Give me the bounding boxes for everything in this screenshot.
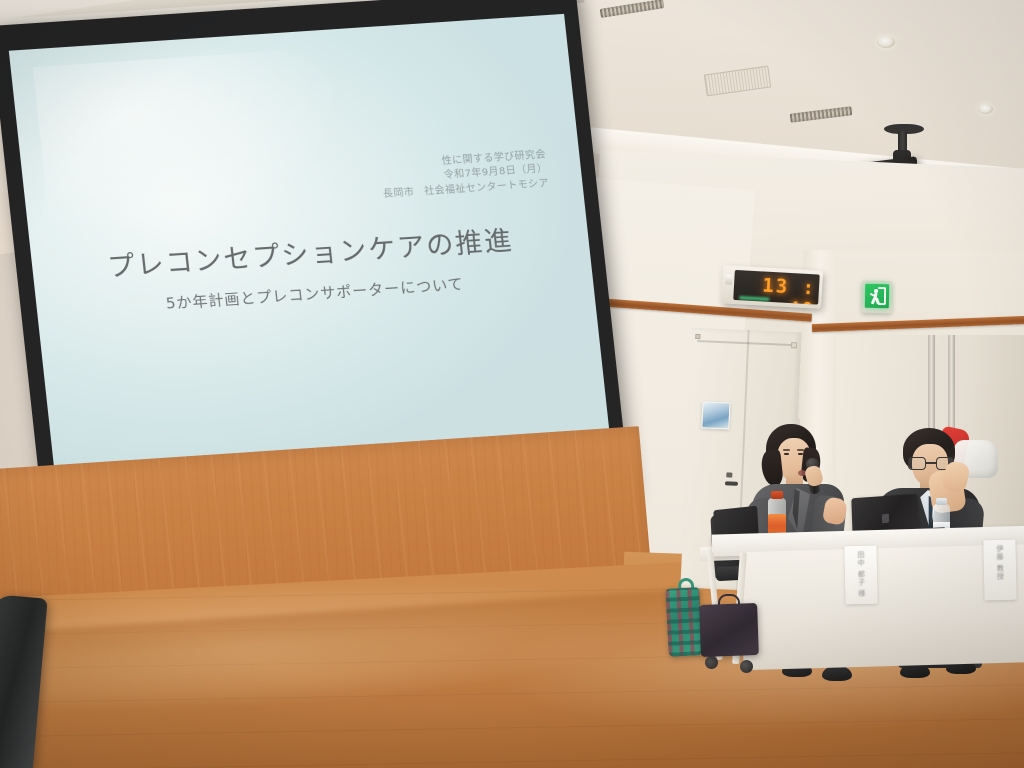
slide-header-block: 性に関する学び研究会 令和7年9月8日（月） 長岡市社会福祉センタートモシア [379, 148, 549, 202]
presentation-slide: 性に関する学び研究会 令和7年9月8日（月） 長岡市社会福祉センタートモシア プ… [9, 14, 612, 490]
door-header-rail [697, 340, 793, 346]
door-notice-sign [701, 401, 730, 429]
nameplate-right-text: 伊藤 教授 [994, 545, 1006, 580]
slide-header-org: 長岡市 [382, 186, 415, 202]
bottle-cap-icon [936, 498, 947, 505]
tote-bag[interactable] [665, 587, 703, 657]
panelist-shoe [900, 664, 930, 678]
laptop-logo-icon [882, 514, 889, 523]
exit-door-icon [878, 287, 886, 305]
projection-screen-surface: 性に関する学び研究会 令和7年9月8日（月） 長岡市社会福祉センタートモシア プ… [9, 14, 612, 490]
briefcase[interactable] [699, 603, 759, 657]
room-photo-scene: 性に関する学び研究会 令和7年9月8日（月） 長岡市社会福祉センタートモシア プ… [0, 0, 1024, 768]
clock-time-text: 13 : 40 [733, 273, 816, 305]
bottle-cap-icon [771, 491, 783, 499]
nameplate-right: 伊藤 教授 [983, 540, 1016, 601]
door-handle-icon[interactable] [725, 481, 738, 486]
speaker-shoe [822, 666, 852, 681]
door-lock-icon[interactable] [726, 472, 732, 477]
digital-clock: 13 : 40 [721, 265, 823, 309]
clock-sensor-icon [725, 274, 733, 284]
door-stopper-icon [791, 342, 797, 348]
exit-sign [862, 281, 893, 314]
table-caster [740, 660, 753, 673]
clock-display-face: 13 : 40 [733, 270, 820, 305]
exit-sign-panel [865, 284, 889, 308]
downlight-icon [877, 36, 895, 48]
nameplate-left-text: 田中 都子 様 [855, 551, 867, 598]
downlight-icon [978, 104, 993, 114]
door-stopper-icon [695, 334, 700, 339]
table-modesty-panel [740, 544, 1024, 670]
table-caster [705, 656, 718, 669]
nameplate-left: 田中 都子 様 [844, 546, 877, 605]
